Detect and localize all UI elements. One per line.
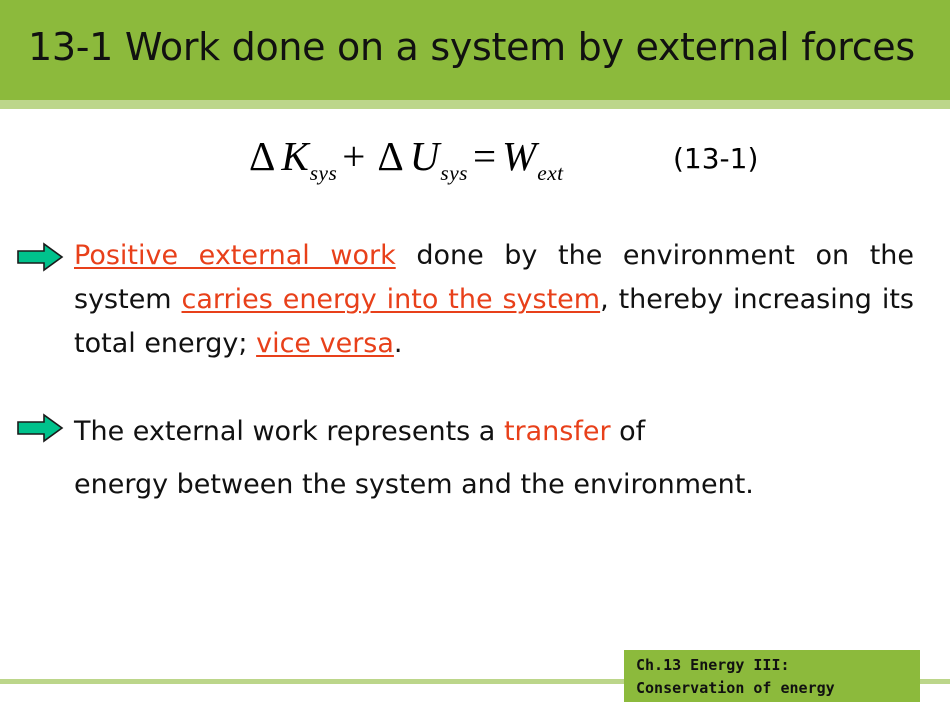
bullet-2-highlight-transfer: transfer bbox=[504, 416, 611, 447]
equation-variable-k: K bbox=[281, 133, 308, 179]
bullet-1-highlight-3: vice versa bbox=[256, 328, 394, 359]
equation-variable-w: W bbox=[502, 133, 536, 179]
equation-subscript-ext: ext bbox=[537, 161, 563, 185]
footer-line-2: Conservation of energy bbox=[636, 677, 922, 700]
title-underbar-divider bbox=[0, 100, 950, 109]
equals-operator: = bbox=[467, 133, 502, 179]
equation-subscript-sys-1: sys bbox=[310, 161, 338, 185]
bullet-2-plain-2: of bbox=[611, 416, 646, 447]
bullet-1-text: Positive external work done by the envir… bbox=[74, 234, 914, 366]
equation-row: ΔKsys+ΔUsys=Wext (13-1) bbox=[0, 136, 950, 198]
green-right-arrow-icon bbox=[16, 413, 64, 443]
page-title: 13-1 Work done on a system by external f… bbox=[28, 25, 928, 69]
footer-line-1: Ch.13 Energy III: bbox=[636, 654, 922, 677]
bullet-1-highlight-2: carries energy into the system bbox=[182, 284, 601, 315]
equation-formula: ΔKsys+ΔUsys=Wext bbox=[243, 136, 563, 177]
delta-symbol-2: Δ bbox=[371, 133, 409, 179]
bullet-1-highlight-1: Positive external work bbox=[74, 240, 396, 271]
bullet-2-text: The external work represents a transfer … bbox=[74, 405, 914, 511]
bullet-2-plain-1: The external work represents a bbox=[74, 416, 504, 447]
footer-chapter-label: Ch.13 Energy III: Conservation of energy bbox=[636, 654, 922, 700]
equation-subscript-sys-2: sys bbox=[440, 161, 468, 185]
equation-number: (13-1) bbox=[673, 142, 758, 175]
green-right-arrow-icon bbox=[16, 242, 64, 272]
equation-variable-u: U bbox=[410, 133, 440, 179]
plus-operator: + bbox=[336, 133, 371, 179]
bullet-1-plain-3: . bbox=[394, 328, 403, 359]
bullet-2-line-2: energy between the system and the enviro… bbox=[74, 458, 914, 511]
delta-symbol-1: Δ bbox=[243, 133, 281, 179]
